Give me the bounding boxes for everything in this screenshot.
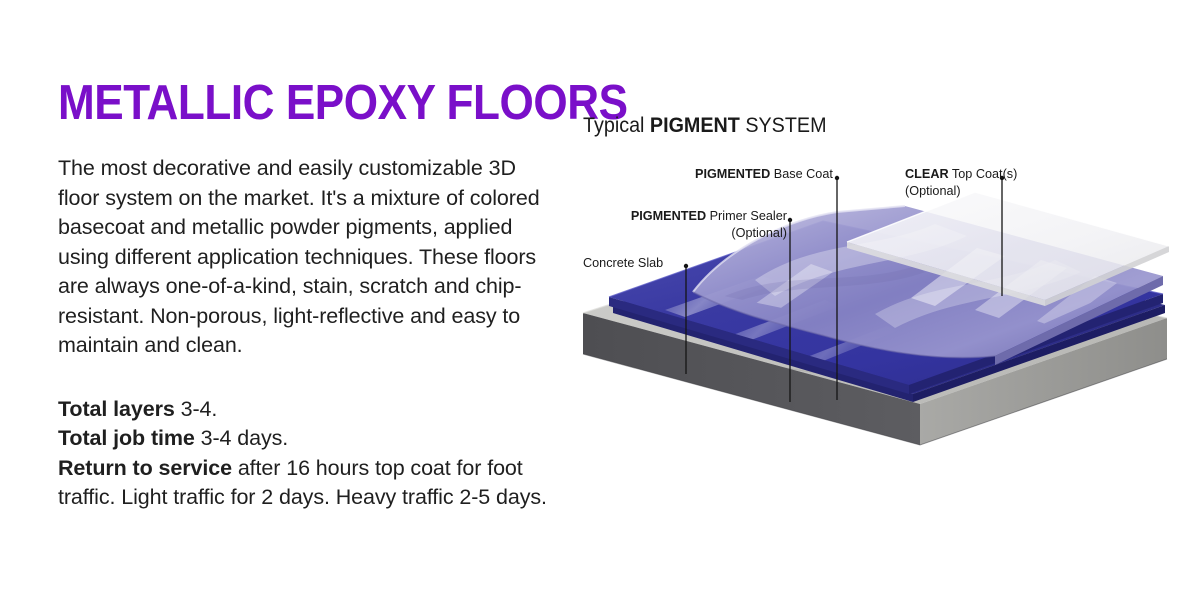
pigment-system-diagram-panel: Typical PIGMENT SYSTEM: [575, 100, 1175, 500]
spec-value: 3-4.: [175, 397, 218, 421]
callout-label-primer-sealer: PIGMENTED Primer Sealer (Optional): [605, 208, 787, 241]
callout-label-base-coat: PIGMENTED Base Coat: [695, 166, 833, 183]
spec-value: 3-4 days.: [195, 426, 288, 450]
callout-rest: Base Coat: [770, 166, 833, 181]
callout-rest: Primer Sealer: [706, 208, 787, 223]
callout-bold: PIGMENTED: [695, 166, 770, 181]
spec-line-total-job-time: Total job time 3-4 days.: [58, 424, 558, 454]
left-content-column: METALLIC EPOXY FLOORS The most decorativ…: [58, 78, 563, 513]
slide-root: METALLIC EPOXY FLOORS The most decorativ…: [0, 0, 1200, 600]
layer-stack-illustration: [575, 100, 1175, 500]
intro-paragraph: The most decorative and easily customiza…: [58, 154, 558, 361]
callout-label-concrete-slab: Concrete Slab: [583, 255, 663, 272]
callout-rest: Top Coat(s): [949, 166, 1018, 181]
callout-sub: (Optional): [605, 225, 787, 242]
page-title: METALLIC EPOXY FLOORS: [58, 78, 513, 128]
callout-sub: (Optional): [905, 183, 1017, 200]
callout-label-clear-coat: CLEAR Top Coat(s) (Optional): [905, 166, 1017, 199]
specs-block: Total layers 3-4. Total job time 3-4 day…: [58, 395, 558, 513]
spec-key: Return to service: [58, 456, 232, 480]
spec-line-return-to-service: Return to service after 16 hours top coa…: [58, 454, 558, 513]
callout-bold: CLEAR: [905, 166, 949, 181]
spec-key: Total layers: [58, 397, 175, 421]
spec-line-total-layers: Total layers 3-4.: [58, 395, 558, 425]
callout-bold: PIGMENTED: [631, 208, 706, 223]
spec-key: Total job time: [58, 426, 195, 450]
callout-rest: Concrete Slab: [583, 255, 663, 270]
